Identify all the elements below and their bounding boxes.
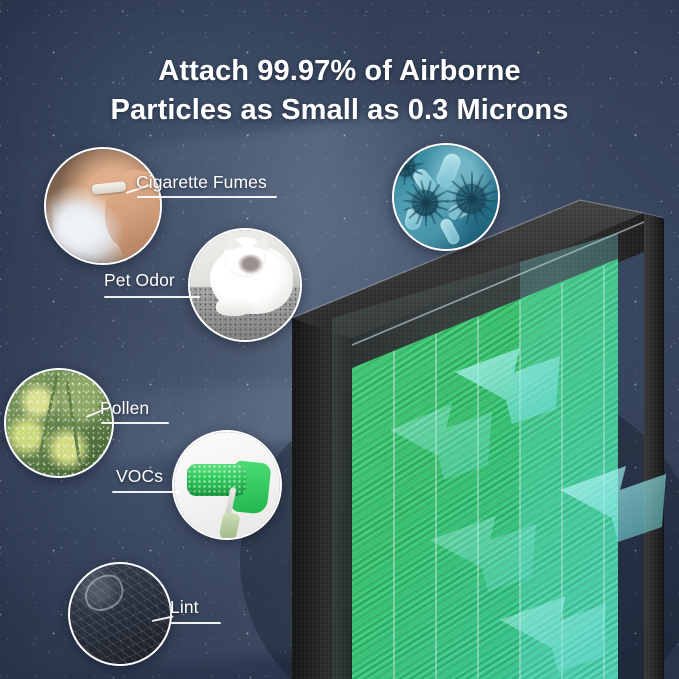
vocs-underline [112, 491, 180, 493]
pollen-flowers-photo [6, 370, 112, 476]
title-line-1: Attach 99.97% of Airborne [158, 55, 520, 87]
vocs-label: VOCs [116, 466, 163, 487]
pet-odor-underline [104, 296, 200, 298]
pet-odor-circle[interactable] [188, 228, 302, 342]
lint-underline [171, 622, 221, 624]
bacteria-virus-microscope-photo [394, 145, 498, 249]
virus-spiky-2 [444, 172, 498, 226]
pet-odor-label: Pet Odor [104, 270, 175, 291]
lint-label: Lint [170, 597, 199, 618]
virus-spiky-1 [402, 180, 448, 226]
bacteria-circle[interactable] [392, 143, 500, 251]
cat-in-litter-photo [190, 230, 300, 340]
pollen-label: Pollen [100, 398, 149, 419]
cigarette-smoke-photo [46, 149, 160, 263]
virus-spiky-3 [394, 149, 423, 184]
cigarette-fumes-circle[interactable] [44, 147, 162, 265]
infographic-canvas: Attach 99.97% of Airborne Particles as S… [0, 0, 679, 679]
cigarette-fumes-label: Cigarette Fumes [136, 172, 267, 193]
vocs-circle[interactable] [172, 430, 282, 540]
lint-circle[interactable] [68, 562, 172, 666]
title-line-2: Particles as Small as 0.3 Microns [52, 91, 627, 130]
paint-roller-photo [174, 432, 280, 538]
cigarette-fumes-underline [137, 196, 277, 198]
pollen-underline [101, 422, 169, 424]
pollen-circle[interactable] [4, 368, 114, 478]
page-title: Attach 99.97% of Airborne Particles as S… [0, 52, 679, 131]
lint-fibers-photo [70, 564, 170, 664]
